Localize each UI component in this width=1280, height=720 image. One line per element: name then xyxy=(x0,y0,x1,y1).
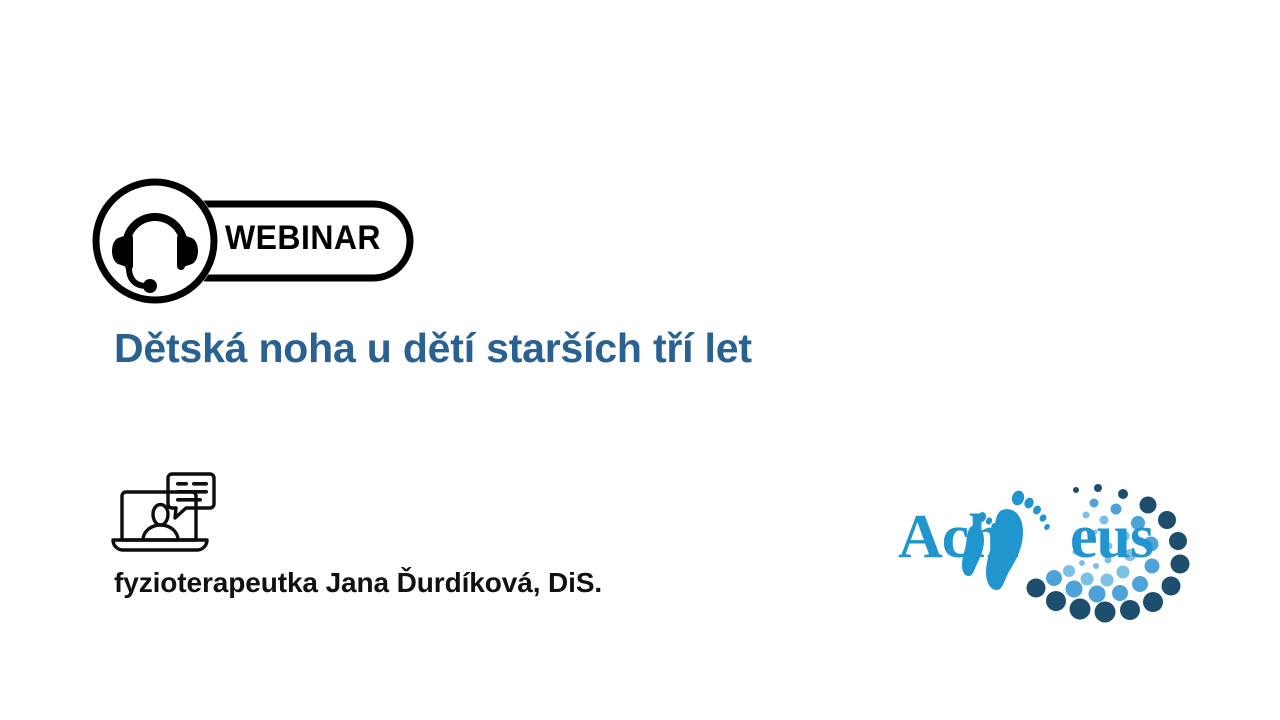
brand-wordmark-prefix: Achi xyxy=(898,503,1018,571)
avatar-body-icon xyxy=(143,525,178,540)
laptop-webinar-graphic xyxy=(110,470,220,560)
webinar-badge: WEBINAR xyxy=(92,176,422,306)
webinar-slide: WEBINAR Dětská noha u dětí starších tří … xyxy=(0,0,1280,720)
laptop-base-icon xyxy=(113,540,207,550)
avatar-head-icon xyxy=(153,505,168,526)
brand-wordmark-suffix: eus xyxy=(1070,503,1153,571)
brand-logo: Achieus xyxy=(890,458,1200,628)
brand-wordmark: Achieus xyxy=(898,506,1153,568)
speech-bubble-lines-icon xyxy=(176,482,208,502)
laptop-webinar-icon xyxy=(110,470,220,560)
speech-bubble-icon xyxy=(168,474,214,518)
presenter-name: fyzioterapeutka Jana Ďurdíková, DiS. xyxy=(114,566,602,600)
page-title: Dětská noha u dětí starších tří let xyxy=(114,325,752,372)
webinar-badge-label: WEBINAR xyxy=(225,221,381,255)
